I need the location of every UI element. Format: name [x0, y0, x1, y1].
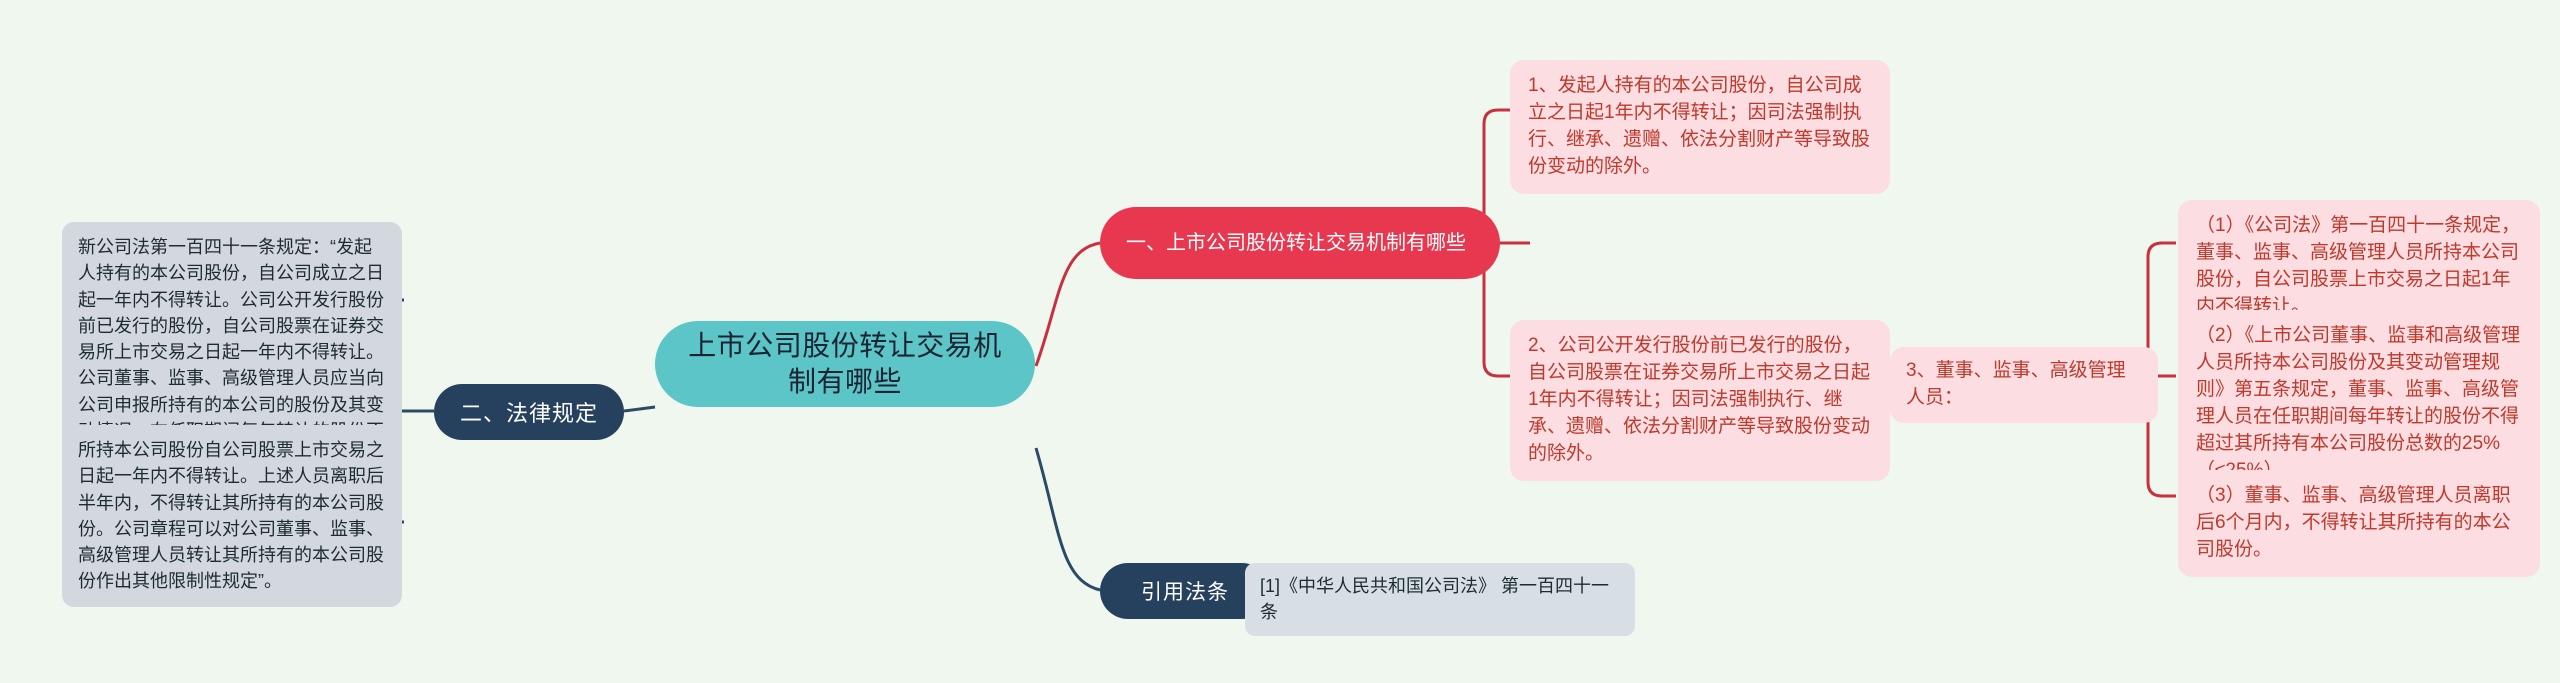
branch-citation-label: 引用法条	[1141, 576, 1229, 606]
card-mechanism-item-1-text: 1、发起人持有的本公司股份，自公司成立之日起1年内不得转让；因司法强制执行、继承…	[1528, 75, 1870, 177]
link-central-to-citation	[1036, 448, 1100, 590]
card-mechanism-item-3-child-3[interactable]: （3）董事、监事、高级管理人员离职后6个月内，不得转让其所持有的本公司股份。	[2178, 470, 2540, 577]
card-mechanism-item-2[interactable]: 2、公司公开发行股份前已发行的股份，自公司股票在证券交易所上市交易之日起1年内不…	[1510, 320, 1890, 481]
branch-mechanism[interactable]: 一、上市公司股份转让交易机制有哪些	[1100, 207, 1500, 279]
card-mechanism-item-3[interactable]: 3、董事、监事、高级管理人员：	[1890, 347, 2158, 423]
card-mechanism-item-3-child-2-text: （2）《上市公司董事、监事和高级管理人员所持本公司股份及其变动管理规则》第五条规…	[2196, 325, 2520, 481]
card-mechanism-item-1[interactable]: 1、发起人持有的本公司股份，自公司成立之日起1年内不得转让；因司法强制执行、继承…	[1510, 60, 1890, 194]
mindmap-canvas: 上市公司股份转让交易机制有哪些 一、上市公司股份转让交易机制有哪些 1、发起人持…	[0, 0, 2560, 683]
branch-mechanism-label: 一、上市公司股份转让交易机制有哪些	[1126, 230, 1466, 257]
branch-law-label: 二、法律规定	[460, 396, 598, 428]
card-law-item-2[interactable]: 所持本公司股份自公司股票上市交易之日起一年内不得转让。上述人员离职后半年内，不得…	[62, 425, 402, 607]
card-law-item-2-text: 所持本公司股份自公司股票上市交易之日起一年内不得转让。上述人员离职后半年内，不得…	[78, 440, 384, 591]
card-mechanism-item-3-text: 3、董事、监事、高级管理人员：	[1906, 360, 2126, 408]
card-mechanism-item-3-child-1-text: （1）《公司法》第一百四十一条规定，董事、监事、高级管理人员所持本公司股份，自公…	[2196, 215, 2520, 317]
branch-law[interactable]: 二、法律规定	[434, 384, 624, 440]
central-node-label: 上市公司股份转让交易机制有哪些	[655, 328, 1035, 400]
central-node[interactable]: 上市公司股份转让交易机制有哪些	[655, 321, 1035, 407]
link-central-to-mechanism	[1036, 243, 1100, 366]
link-central-to-law	[624, 407, 655, 411]
card-citation-item-1[interactable]: [1]《中华人民共和国公司法》 第一百四十一条	[1245, 563, 1635, 636]
card-mechanism-item-3-child-3-text: （3）董事、监事、高级管理人员离职后6个月内，不得转让其所持有的本公司股份。	[2196, 485, 2511, 560]
card-mechanism-item-2-text: 2、公司公开发行股份前已发行的股份，自公司股票在证券交易所上市交易之日起1年内不…	[1528, 335, 1870, 464]
card-citation-item-1-text: [1]《中华人民共和国公司法》 第一百四十一条	[1260, 576, 1609, 622]
